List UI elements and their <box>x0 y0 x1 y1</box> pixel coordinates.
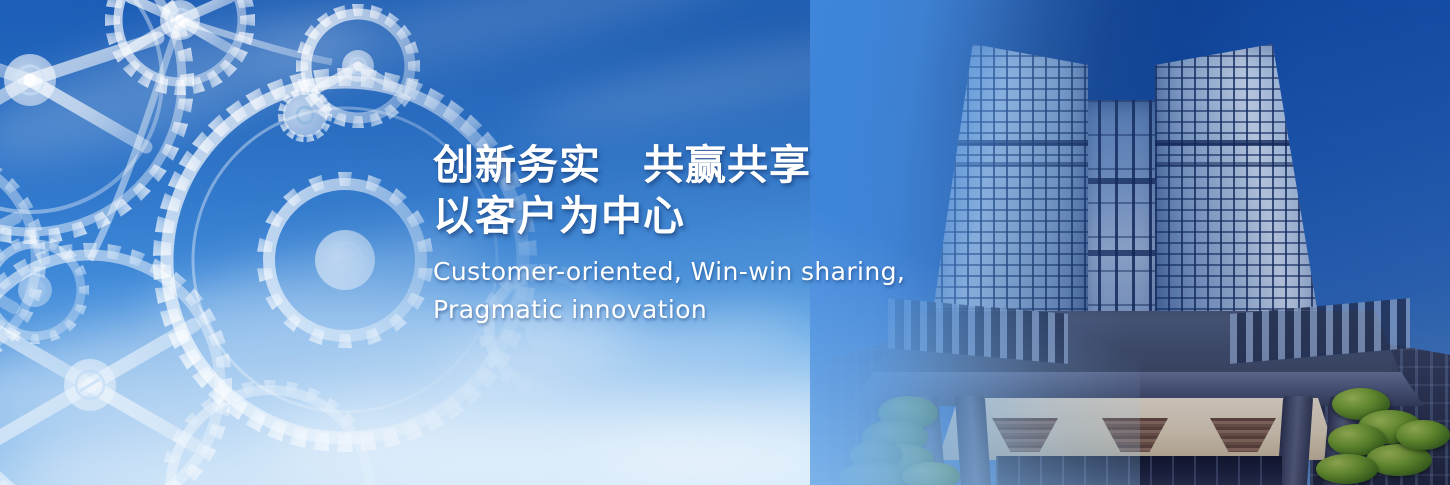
headline-line-2: 以客户为中心 <box>433 191 953 242</box>
subline-block: Customer-oriented, Win-win sharing, Prag… <box>433 253 953 329</box>
hero-banner: 创新务实 共赢共享 以客户为中心 Customer-oriented, Win-… <box>0 0 1450 485</box>
banner-copy: 创新务实 共赢共享 以客户为中心 Customer-oriented, Win-… <box>433 140 953 329</box>
headline-line-1: 创新务实 共赢共享 <box>433 140 953 191</box>
subline-line-2: Pragmatic innovation <box>433 291 953 329</box>
subline-line-1: Customer-oriented, Win-win sharing, <box>433 253 953 291</box>
